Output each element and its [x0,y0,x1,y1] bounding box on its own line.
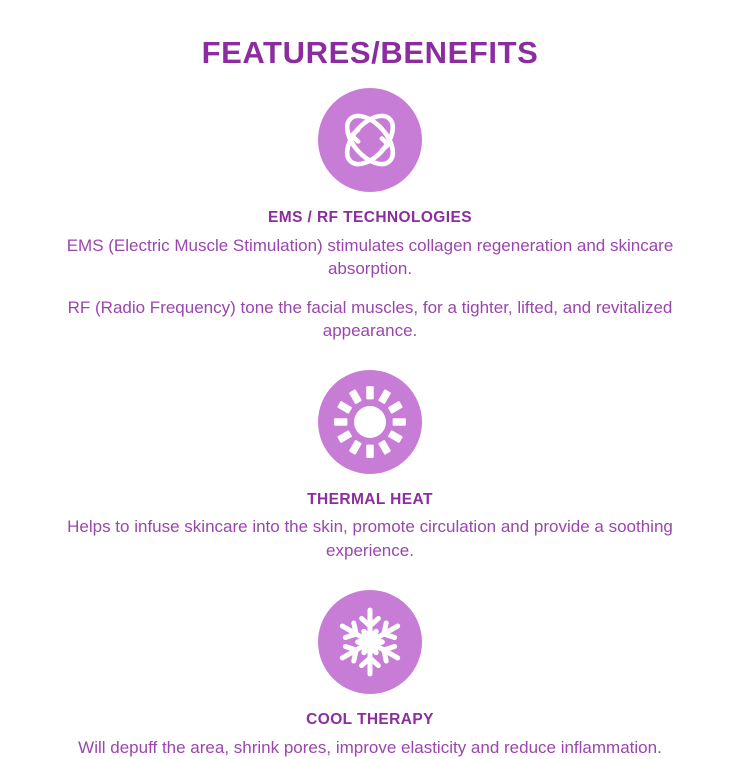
features-benefits-page: FEATURES/BENEFITS EMS / RF TECHNOLOGIES … [0,0,740,740]
feature-block-thermal: THERMAL HEAT Helps to infuse skincare in… [0,343,740,563]
feature-body-cool: Will depuff the area, shrink pores, impr… [78,736,662,759]
sun-rays-icon [331,383,409,461]
feature-body-ems-secondary: RF (Radio Frequency) tone the facial mus… [25,296,715,343]
feature-title-thermal: THERMAL HEAT [307,491,433,510]
feature-title-cool: COOL THERAPY [306,711,434,730]
page-title: FEATURES/BENEFITS [202,0,539,70]
feature-block-ems: EMS / RF TECHNOLOGIES EMS (Electric Musc… [0,70,740,342]
sun-rays-icon-circle [318,370,422,474]
feature-block-cool: COOL THERAPY Will depuff the area, shrin… [0,562,740,759]
feature-title-ems: EMS / RF TECHNOLOGIES [268,209,472,228]
snowflake-icon [332,604,408,680]
snowflake-icon-circle [318,590,422,694]
atom-orbit-icon-circle [318,88,422,192]
atom-orbit-icon [333,103,407,177]
feature-body-ems: EMS (Electric Muscle Stimulation) stimul… [25,234,715,281]
feature-body-thermal: Helps to infuse skincare into the skin, … [25,515,715,562]
